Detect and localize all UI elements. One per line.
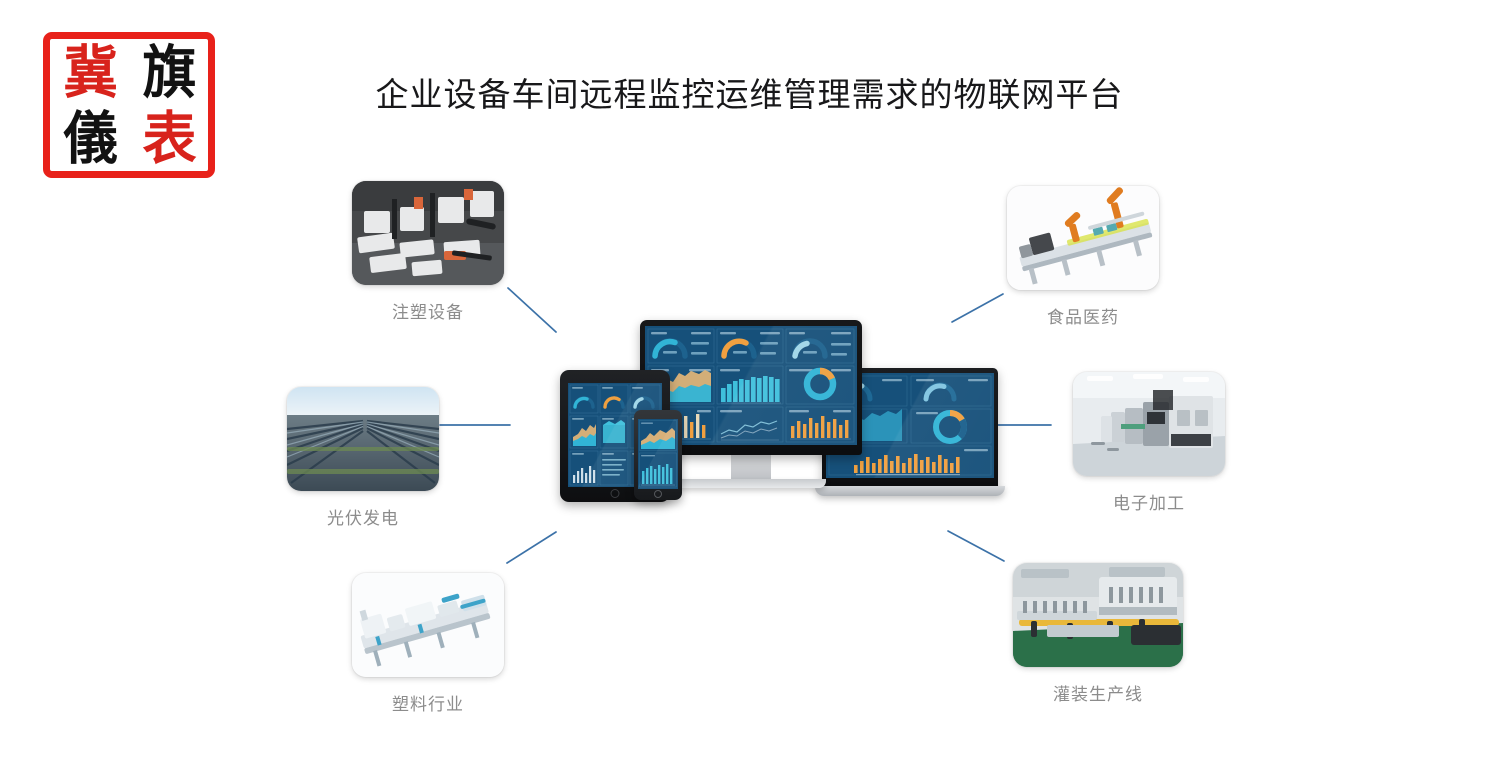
node-electron-label: 电子加工 <box>1073 489 1225 514</box>
node-plastic-label: 塑料行业 <box>352 690 504 715</box>
node-injection-label: 注塑设备 <box>352 298 504 323</box>
node-plastic-thumbnail <box>352 573 504 677</box>
phone-bezel <box>634 410 682 500</box>
phone-home-button[interactable] <box>654 490 662 498</box>
page-title: 企业设备车间远程监控运维管理需求的物联网平台 <box>0 68 1499 116</box>
tablet-home-button[interactable] <box>611 489 620 498</box>
connector-filling <box>948 531 1004 561</box>
node-filling-thumbnail <box>1013 563 1183 667</box>
node-injection[interactable]: 注塑设备 <box>352 181 504 323</box>
slide-canvas: 冀 旗 儀 表 企业设备车间远程监控运维管理需求的物联网平台 <box>0 0 1499 759</box>
injection-molding-photo <box>352 181 504 285</box>
monitor-stand-foot <box>676 479 826 488</box>
node-solar[interactable]: 光伏发电 <box>287 387 439 529</box>
node-injection-thumbnail <box>352 181 504 285</box>
node-solar-label: 光伏发电 <box>287 504 439 529</box>
connector-injection <box>508 288 556 332</box>
node-food-thumbnail <box>1007 186 1159 290</box>
node-food[interactable]: 食品医药 <box>1007 186 1159 328</box>
node-filling-label: 灌装生产线 <box>1013 680 1183 705</box>
node-electron[interactable]: 电子加工 <box>1073 372 1225 514</box>
node-filling[interactable]: 灌装生产线 <box>1013 563 1183 705</box>
device-phone[interactable] <box>634 410 682 500</box>
phone-dashboard-screen <box>638 419 678 489</box>
node-food-label: 食品医药 <box>1007 303 1159 328</box>
plastic-extrusion-line-photo <box>352 573 504 677</box>
logo-char-4: 表 <box>143 110 195 167</box>
logo-char-3: 儀 <box>64 110 116 167</box>
node-solar-thumbnail <box>287 387 439 491</box>
node-electron-thumbnail <box>1073 372 1225 476</box>
connector-plastic <box>507 532 556 563</box>
device-cluster <box>556 310 966 515</box>
monitor-stand-neck <box>731 455 771 479</box>
food-pharma-robot-line-photo <box>1007 186 1159 290</box>
filling-line-photo <box>1013 563 1183 667</box>
electronics-cleanroom-photo <box>1073 372 1225 476</box>
solar-farm-photo <box>287 387 439 491</box>
node-plastic[interactable]: 塑料行业 <box>352 573 504 715</box>
